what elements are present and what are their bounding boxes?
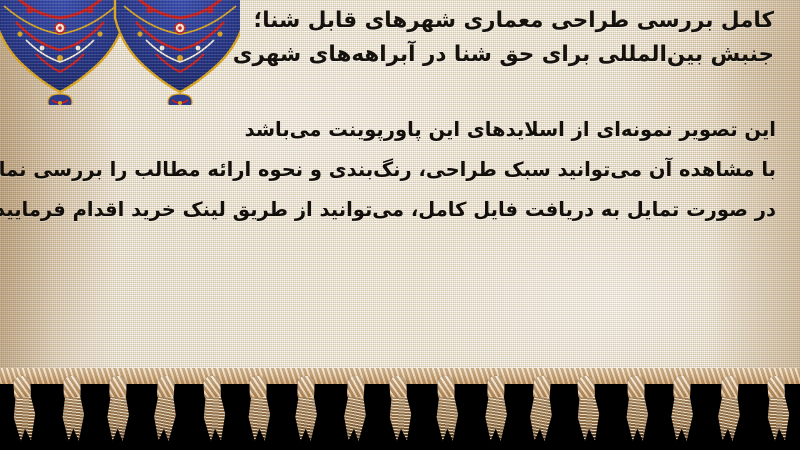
tassel-skirt bbox=[247, 397, 272, 441]
slide-body-line-3: در صورت تمایل به دریافت فایل کامل، می‌تو… bbox=[36, 190, 776, 230]
slide-body: این تصویر نمونه‌ای از اسلایدهای این پاور… bbox=[36, 110, 776, 230]
fringe-tassel bbox=[292, 376, 319, 446]
fringe-tassel bbox=[526, 375, 556, 446]
fringe-tassel bbox=[199, 375, 229, 446]
tassel-skirt bbox=[484, 397, 509, 441]
fringe-tassel bbox=[340, 375, 370, 446]
tassel-skirt bbox=[201, 396, 227, 441]
fringe-tassel bbox=[9, 375, 39, 446]
tassel-skirt bbox=[11, 396, 37, 441]
fringe-tassel bbox=[59, 376, 86, 446]
fringe-tassel bbox=[624, 376, 651, 446]
fringe-tassel bbox=[573, 375, 603, 446]
tassel-skirt bbox=[341, 396, 367, 441]
tassel-skirt bbox=[387, 396, 413, 441]
tassel-skirt bbox=[151, 396, 177, 441]
tassel-skirt bbox=[670, 397, 695, 441]
tassel-skirt bbox=[766, 396, 792, 441]
fringe-tassel bbox=[104, 376, 131, 446]
fringe-tassel bbox=[763, 375, 793, 446]
tassel-skirt bbox=[60, 397, 85, 441]
slide-title-line-2: جنبش بین‌المللی برای حق شنا در آبراهه‌ها… bbox=[214, 38, 774, 72]
tassel-skirt bbox=[435, 397, 460, 441]
fringe-tassel bbox=[150, 375, 180, 446]
tassel-skirt bbox=[105, 397, 130, 441]
tassel-skirt bbox=[625, 397, 650, 441]
slide-title-line-1: کامل بررسی طراحی معماری شهرهای قابل شنا؛ bbox=[214, 4, 774, 38]
slide-body-line-2: با مشاهده آن می‌توانید سبک طراحی، رنگ‌بن… bbox=[36, 150, 776, 190]
fringe-tassel bbox=[669, 376, 696, 446]
fringe-tassel bbox=[245, 376, 272, 446]
fringe-tassel bbox=[714, 375, 744, 446]
fringe-tassel bbox=[385, 375, 415, 446]
slide-title: کامل بررسی طراحی معماری شهرهای قابل شنا؛… bbox=[214, 4, 774, 72]
slide-canvas: کامل بررسی طراحی معماری شهرهای قابل شنا؛… bbox=[0, 0, 800, 450]
carpet-tassel-fringe bbox=[0, 368, 800, 450]
tassel-skirt bbox=[293, 397, 318, 441]
fringe-tassel bbox=[433, 376, 460, 446]
slide-body-line-1: این تصویر نمونه‌ای از اسلایدهای این پاور… bbox=[36, 110, 776, 150]
tassel-skirt bbox=[575, 396, 601, 441]
tassel-skirt bbox=[716, 396, 742, 441]
tassel-skirt bbox=[527, 396, 553, 441]
fringe-tassel bbox=[482, 376, 509, 446]
